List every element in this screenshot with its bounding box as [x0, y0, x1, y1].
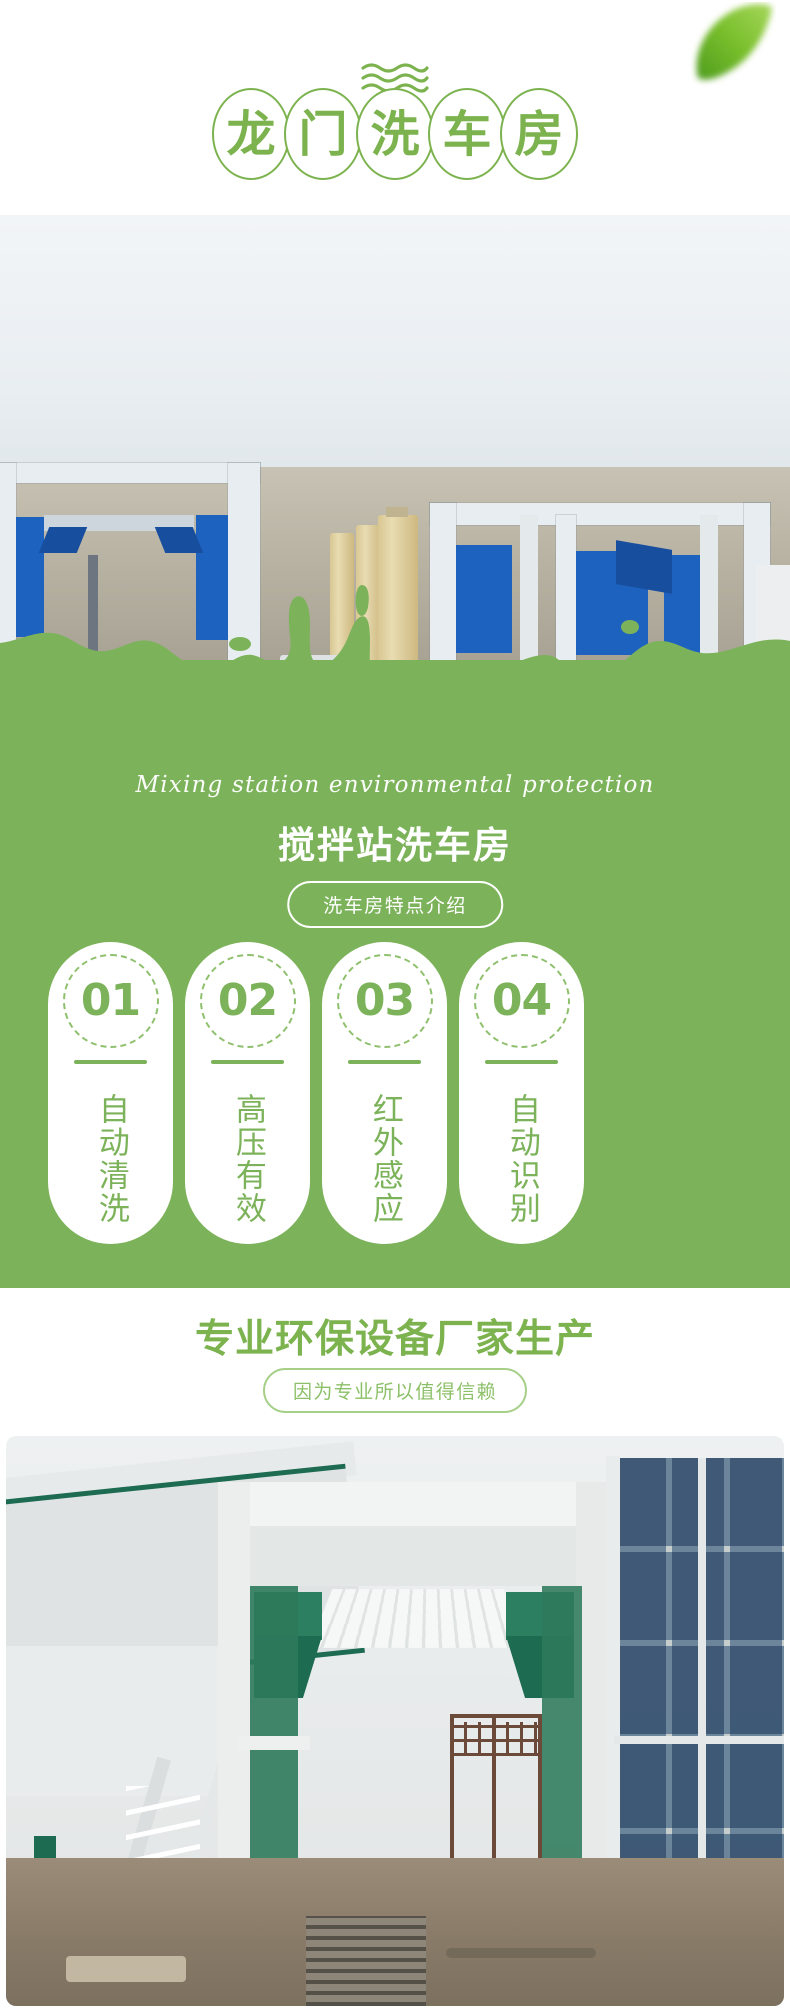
title-char-4: 车: [428, 88, 506, 180]
cta-headline: 专业环保设备厂家生产: [0, 1308, 790, 1364]
feature-intro-pill[interactable]: 洗车房特点介绍: [287, 881, 503, 928]
card-divider: [211, 1060, 284, 1064]
feature-card-01[interactable]: 01 自动清洗: [48, 942, 173, 1244]
cta-pill[interactable]: 因为专业所以值得信赖: [263, 1368, 527, 1413]
title-char-1-label: 龙: [226, 110, 275, 159]
card-divider: [74, 1060, 147, 1064]
card-divider: [348, 1060, 421, 1064]
title-char-5-label: 房: [514, 110, 563, 159]
feature-number-badge-01: 01: [63, 954, 159, 1048]
cta-section: 专业环保设备厂家生产 因为专业所以值得信赖: [0, 1288, 790, 1436]
page-title: 龙 门 洗 车 房: [0, 88, 790, 180]
feature-label-03: 红外感应: [367, 1074, 402, 1244]
title-char-2-label: 门: [298, 110, 347, 159]
splash-divider: [0, 545, 790, 705]
feature-photo-bottom: [6, 1436, 784, 2006]
english-subtitle: Mixing station environmental protection: [0, 772, 790, 798]
feature-number-03: 03: [355, 979, 414, 1023]
green-feature-section: Mixing station environmental protection …: [0, 660, 790, 1288]
title-char-3-label: 洗: [370, 110, 419, 159]
page-header: 龙 门 洗 车 房: [0, 0, 790, 215]
title-char-1: 龙: [212, 88, 290, 180]
card-divider: [485, 1060, 558, 1064]
feature-number-01: 01: [81, 979, 140, 1023]
feature-number-02: 02: [218, 979, 277, 1023]
feature-label-04: 自动识别: [504, 1074, 539, 1244]
feature-number-badge-02: 02: [200, 954, 296, 1048]
feature-card-02[interactable]: 02 高压有效: [185, 942, 310, 1244]
feature-number-badge-03: 03: [337, 954, 433, 1048]
feature-number-04: 04: [492, 979, 551, 1023]
feature-label-02: 高压有效: [230, 1074, 265, 1244]
feature-number-badge-04: 04: [474, 954, 570, 1048]
feature-card-list: 01 自动清洗 02 高压有效 03 红外感应: [48, 942, 584, 1244]
title-char-5: 房: [500, 88, 578, 180]
title-char-2: 门: [284, 88, 362, 180]
feature-card-03[interactable]: 03 红外感应: [322, 942, 447, 1244]
title-char-4-label: 车: [442, 110, 491, 159]
feature-label-01: 自动清洗: [93, 1074, 128, 1244]
feature-card-04[interactable]: 04 自动识别: [459, 942, 584, 1244]
product-detail-page: 龙 门 洗 车 房: [0, 0, 790, 2013]
section-headline: 搅拌站洗车房: [0, 815, 790, 869]
title-char-3: 洗: [356, 88, 434, 180]
